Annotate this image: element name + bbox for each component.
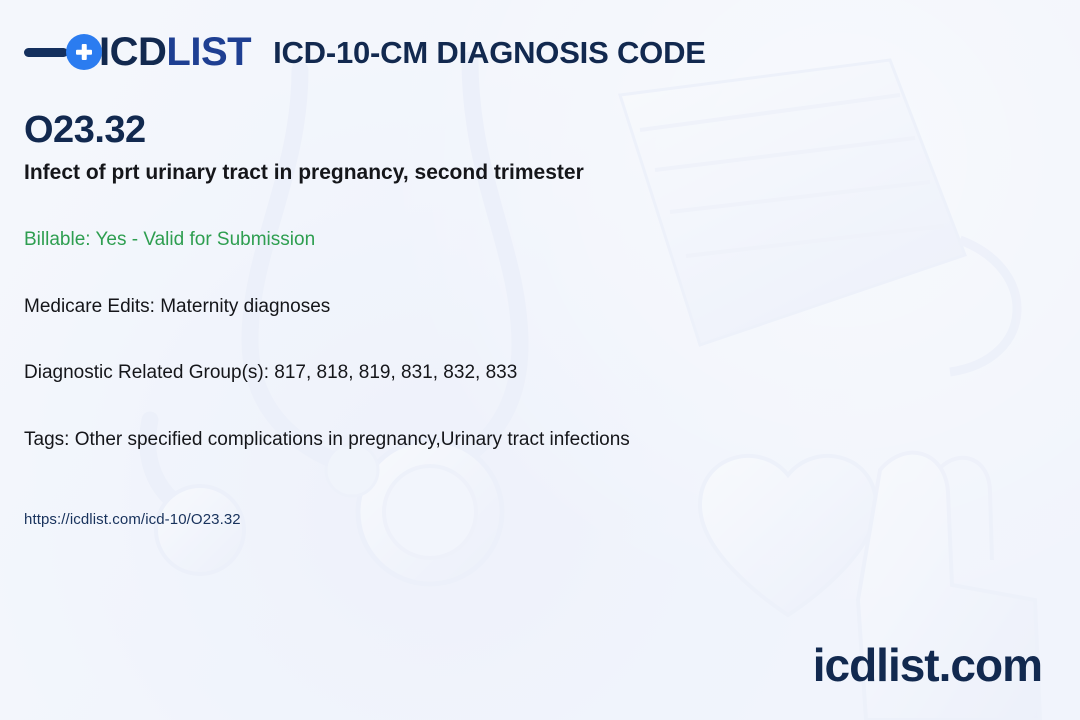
footer-brand[interactable]: icdlist.com <box>813 642 1042 688</box>
logo-wordmark: ICDLIST <box>99 32 251 72</box>
plus-icon <box>66 34 102 70</box>
code-details: O23.32 Infect of prt urinary tract in pr… <box>24 110 1056 529</box>
icd-code-card: ICDLIST ICD-10-CM DIAGNOSIS CODE O23.32 … <box>0 0 1080 720</box>
diagnostic-related-groups: Diagnostic Related Group(s): 817, 818, 8… <box>24 361 1056 386</box>
tags-line: Tags: Other specified complications in p… <box>24 428 1056 453</box>
diagnosis-code: O23.32 <box>24 110 1056 152</box>
medicare-edits: Medicare Edits: Maternity diagnoses <box>24 295 1056 320</box>
billable-status: Billable: Yes - Valid for Submission <box>24 228 1056 253</box>
logo-word-icd: ICD <box>99 30 166 74</box>
page-header: ICDLIST ICD-10-CM DIAGNOSIS CODE <box>24 26 1056 78</box>
dash-icon <box>24 48 68 57</box>
icdlist-logo[interactable]: ICDLIST <box>24 30 251 74</box>
page-footer: icdlist.com <box>813 642 1042 688</box>
page-title: ICD-10-CM DIAGNOSIS CODE <box>273 37 706 68</box>
source-url[interactable]: https://icdlist.com/icd-10/O23.32 <box>24 511 1056 529</box>
diagnosis-description: Infect of prt urinary tract in pregnancy… <box>24 160 1056 186</box>
logo-word-list: LIST <box>166 30 251 74</box>
